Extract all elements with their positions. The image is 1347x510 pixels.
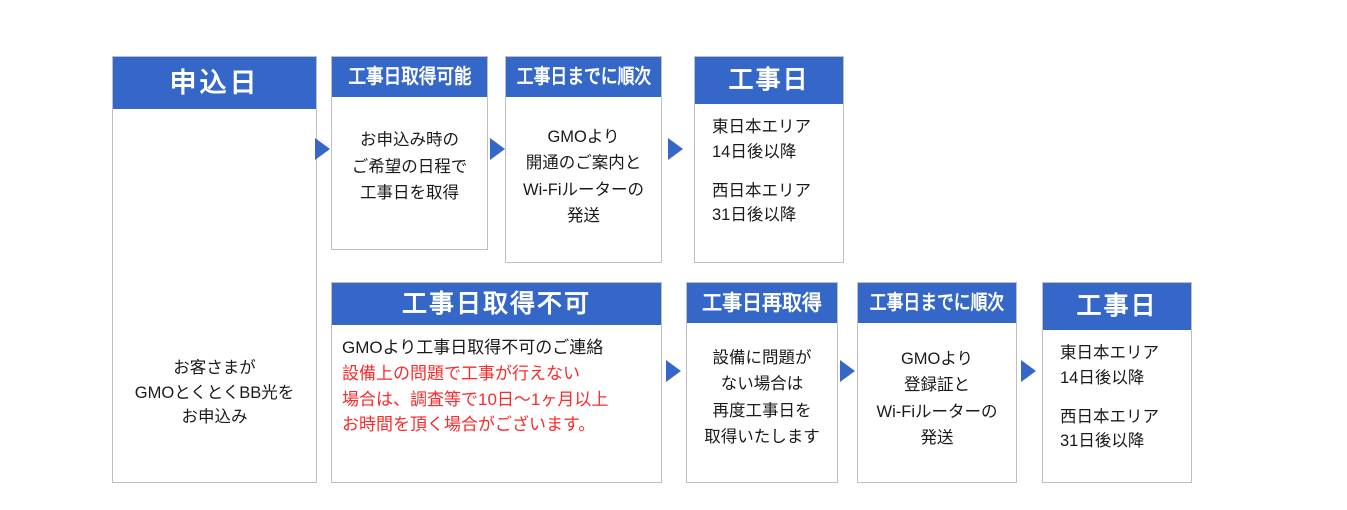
body-line: GMOより: [547, 124, 619, 150]
body-line: 西日本エリア: [712, 179, 811, 204]
body-line: 31日後以降: [712, 203, 796, 228]
flow-box-sequence-bottom: 工事日までに順次 GMOより 登録証と Wi-Fiルーターの 発送: [857, 282, 1017, 483]
arrow-right-icon: [315, 138, 330, 160]
box-body-sequence-bottom: GMOより 登録証と Wi-Fiルーターの 発送: [858, 323, 1016, 482]
body-line: 開通のご案内と: [526, 150, 642, 176]
flow-box-sequence-top: 工事日までに順次 GMOより 開通のご案内と Wi-Fiルーターの 発送: [505, 56, 662, 263]
body-line: GMOとくとくBB光を: [135, 381, 294, 406]
flow-box-date-reacquire: 工事日再取得 設備に問題が ない場合は 再度工事日を 取得いたします: [686, 282, 838, 483]
body-line: ご希望の日程で: [352, 154, 468, 181]
flow-box-date-available: 工事日取得可能 お申込み時の ご希望の日程で 工事日を取得: [331, 56, 488, 250]
flowchart-canvas: 申込日 お客さまが GMOとくとくBB光を お申込み 工事日取得可能 お申込み時…: [0, 0, 1347, 510]
box-header-sequence-bottom: 工事日までに順次: [858, 283, 1016, 323]
body-line: 工事日を取得: [360, 180, 459, 207]
arrow-right-icon: [490, 138, 505, 160]
warning-line: お時間を頂く場合がございます。: [342, 412, 595, 438]
header-text: 工事日再取得: [702, 293, 822, 314]
box-body-date-unavailable: GMOより工事日取得不可のご連絡 設備上の問題で工事が行えない 場合は、調査等で…: [332, 325, 661, 482]
body-line: 東日本エリア: [1060, 341, 1159, 366]
body-line: 取得いたします: [704, 424, 820, 450]
body-line: 登録証と: [904, 372, 970, 398]
body-line: 発送: [921, 425, 954, 451]
flow-box-construction-date-top: 工事日 東日本エリア 14日後以降 西日本エリア 31日後以降: [694, 56, 844, 263]
body-line: 31日後以降: [1060, 429, 1144, 454]
flow-box-construction-date-bottom: 工事日 東日本エリア 14日後以降 西日本エリア 31日後以降: [1042, 282, 1192, 483]
box-header-date-available: 工事日取得可能: [332, 57, 487, 97]
arrow-right-icon: [666, 360, 681, 382]
body-line: 14日後以降: [712, 140, 796, 165]
body-line: Wi-Fiルーターの: [877, 399, 998, 425]
body-line: お申込み: [182, 405, 248, 430]
flow-box-application-date: 申込日 お客さまが GMOとくとくBB光を お申込み: [112, 56, 317, 483]
box-header-application-date: 申込日: [113, 57, 316, 109]
arrow-right-icon: [668, 138, 683, 160]
header-text: 工事日取得可能: [348, 67, 471, 87]
box-body-construction-date-top: 東日本エリア 14日後以降 西日本エリア 31日後以降: [695, 104, 843, 262]
body-line: GMOより: [901, 346, 973, 372]
body-line: 再度工事日を: [713, 398, 812, 424]
box-body-date-available: お申込み時の ご希望の日程で 工事日を取得: [332, 97, 487, 249]
flow-box-date-unavailable: 工事日取得不可 GMOより工事日取得不可のご連絡 設備上の問題で工事が行えない …: [331, 282, 662, 483]
box-header-construction-date-bottom: 工事日: [1043, 283, 1191, 330]
arrow-right-icon: [840, 360, 855, 382]
warning-line: 場合は、調査等で10日〜1ヶ月以上: [342, 387, 608, 413]
header-text: 工事日までに順次: [516, 67, 650, 87]
box-header-date-reacquire: 工事日再取得: [687, 283, 837, 323]
body-line: GMOより工事日取得不可のご連絡: [342, 335, 603, 361]
box-body-date-reacquire: 設備に問題が ない場合は 再度工事日を 取得いたします: [687, 323, 837, 482]
body-line: 西日本エリア: [1060, 405, 1159, 430]
box-header-construction-date-top: 工事日: [695, 57, 843, 104]
box-body-sequence-top: GMOより 開通のご案内と Wi-Fiルーターの 発送: [506, 97, 661, 262]
body-line: 東日本エリア: [712, 115, 811, 140]
body-line: ない場合は: [721, 371, 804, 397]
box-header-date-unavailable: 工事日取得不可: [332, 283, 661, 325]
body-line: 発送: [567, 203, 600, 229]
arrow-right-icon: [1021, 360, 1036, 382]
box-header-sequence-top: 工事日までに順次: [506, 57, 661, 97]
header-text: 工事日までに順次: [870, 293, 1004, 313]
box-body-application-date: お客さまが GMOとくとくBB光を お申込み: [113, 109, 316, 482]
body-line: お客さまが: [173, 356, 256, 381]
body-line: 14日後以降: [1060, 366, 1144, 391]
warning-line: 設備上の問題で工事が行えない: [342, 361, 580, 387]
body-line: 設備に問題が: [713, 345, 812, 371]
body-line: お申込み時の: [360, 127, 459, 154]
box-body-construction-date-bottom: 東日本エリア 14日後以降 西日本エリア 31日後以降: [1043, 330, 1191, 482]
body-line: Wi-Fiルーターの: [523, 177, 644, 203]
